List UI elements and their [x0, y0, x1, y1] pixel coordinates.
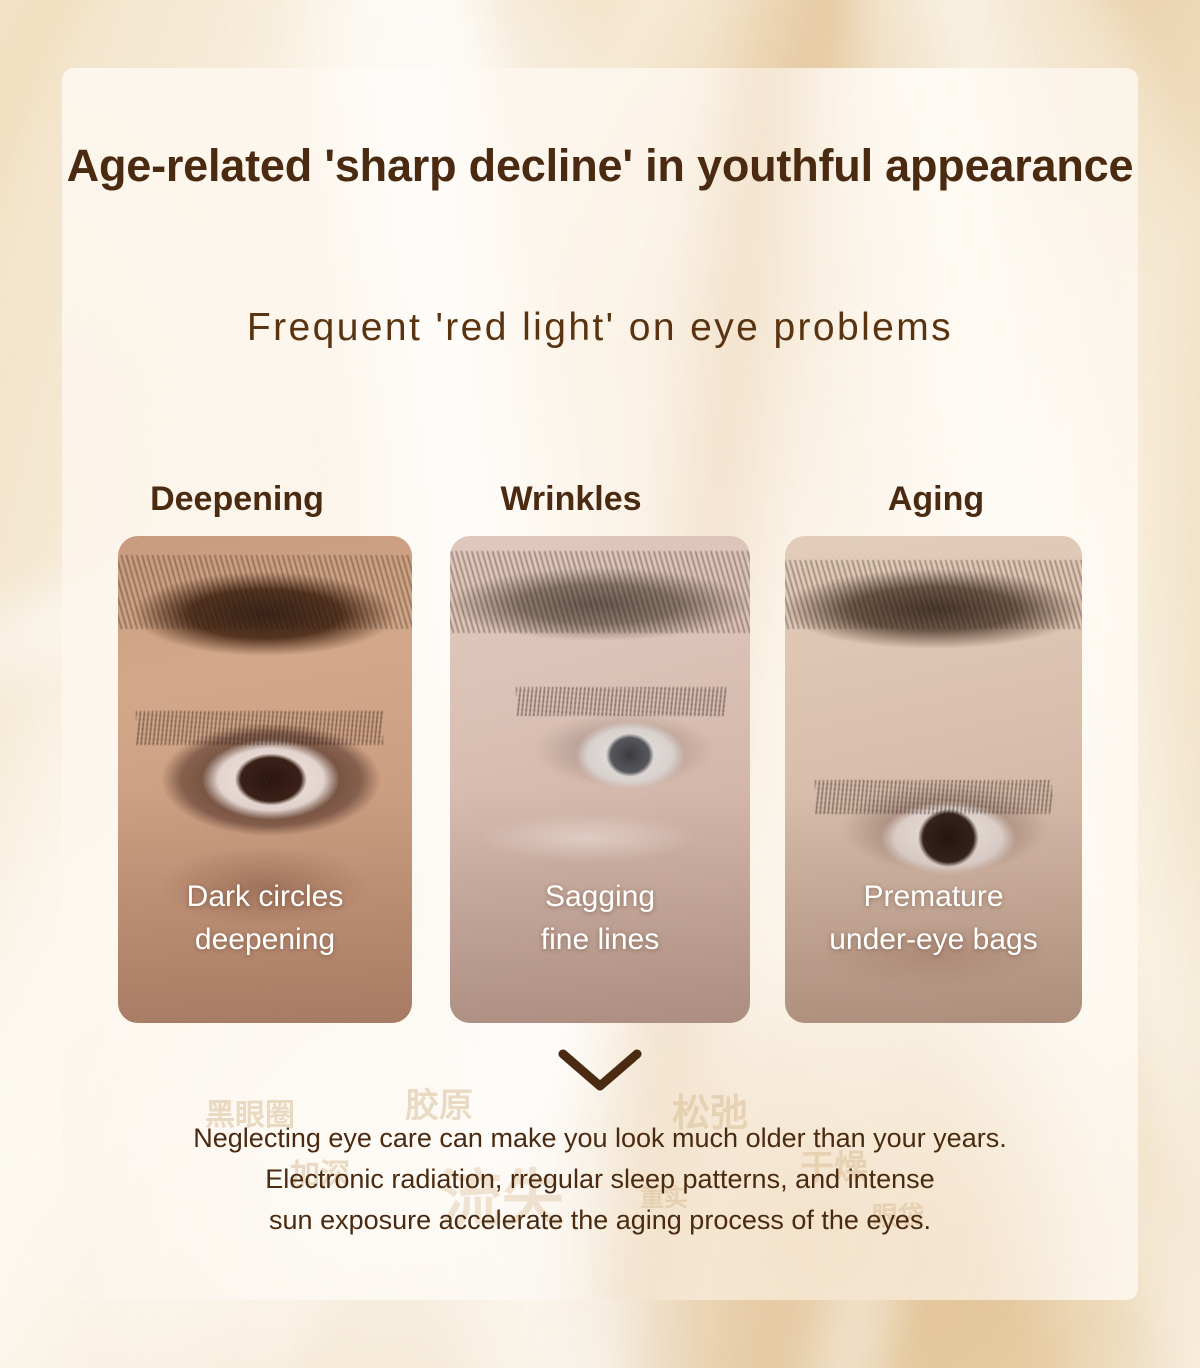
- footer-note: Neglecting eye care can make you look mu…: [0, 1118, 1200, 1241]
- footer-line-2: Electronic radiation, rregular sleep pat…: [0, 1159, 1200, 1200]
- card-caption: Dark circles deepening: [118, 876, 412, 961]
- card-label: Deepening: [62, 480, 412, 519]
- footer-line-1: Neglecting eye care can make you look mu…: [0, 1118, 1200, 1159]
- card-photo-under-eye-bags: Premature under-eye bags: [785, 536, 1082, 1023]
- card-label: Aging: [734, 480, 1138, 519]
- card-caption-line2: deepening: [118, 919, 412, 962]
- symptom-card-row: Deepening Dark circles deepening Wrinkle…: [62, 480, 1138, 1025]
- card-caption: Premature under-eye bags: [785, 876, 1082, 961]
- card-photo-fine-lines: Sagging fine lines: [450, 536, 750, 1023]
- page-subtitle: Frequent 'red light' on eye problems: [0, 306, 1200, 350]
- card-photo-dark-circles: Dark circles deepening: [118, 536, 412, 1023]
- card-caption-line1: Premature: [785, 876, 1082, 919]
- card-label: Wrinkles: [392, 480, 750, 519]
- card-caption: Sagging fine lines: [450, 876, 750, 961]
- footer-line-3: sun exposure accelerate the aging proces…: [0, 1200, 1200, 1241]
- card-caption-line2: under-eye bags: [785, 919, 1082, 962]
- chevron-down-icon: [557, 1048, 643, 1099]
- card-caption-line1: Sagging: [450, 876, 750, 919]
- card-caption-line2: fine lines: [450, 919, 750, 962]
- card-caption-line1: Dark circles: [118, 876, 412, 919]
- page-title: Age-related 'sharp decline' in youthful …: [0, 140, 1200, 192]
